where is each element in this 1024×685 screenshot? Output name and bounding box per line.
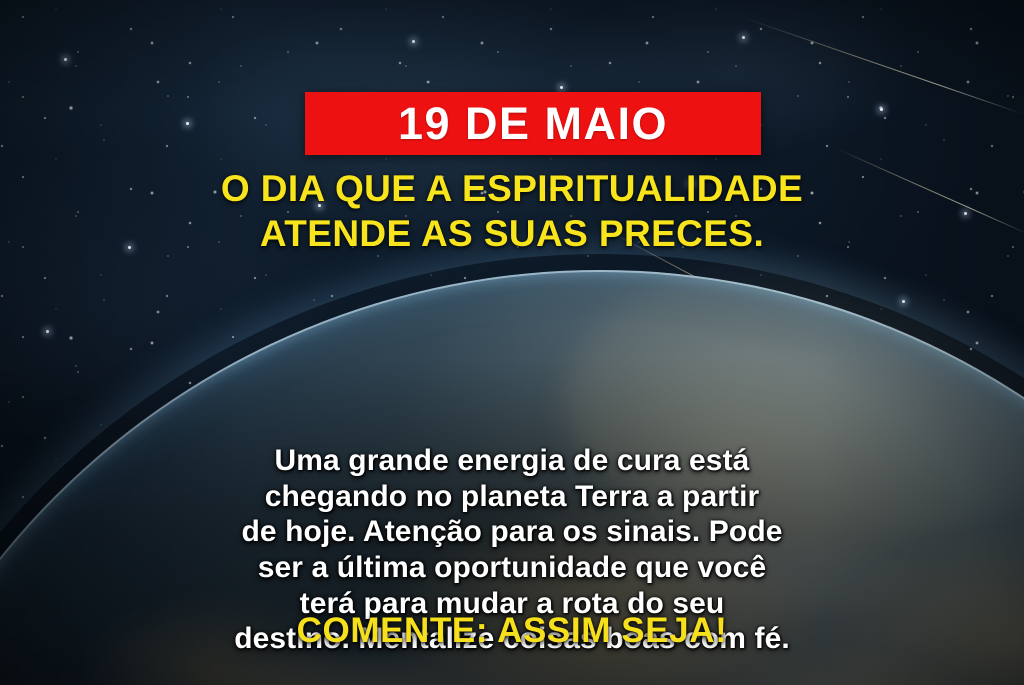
poster-canvas: 19 DE MAIO O DIA QUE A ESPIRITUALIDADE A… [0, 0, 1024, 685]
date-banner: 19 DE MAIO [305, 92, 761, 155]
poster-content: 19 DE MAIO O DIA QUE A ESPIRITUALIDADE A… [0, 0, 1024, 685]
headline-line-1: O DIA QUE A ESPIRITUALIDADE [62, 166, 962, 211]
headline: O DIA QUE A ESPIRITUALIDADE ATENDE AS SU… [62, 166, 962, 256]
headline-line-2: ATENDE AS SUAS PRECES. [62, 211, 962, 256]
call-to-action-label: COMENTE: ASSIM SEJA! [297, 611, 728, 650]
body-line-2: chegando no planeta Terra a partir [47, 479, 977, 515]
date-banner-label: 19 DE MAIO [398, 101, 668, 146]
body-line-3: de hoje. Atenção para os sinais. Pode [47, 514, 977, 550]
body-line-4: ser a última oportunidade que você [47, 550, 977, 586]
call-to-action: COMENTE: ASSIM SEJA! [297, 612, 728, 651]
body-line-1: Uma grande energia de cura está [47, 443, 977, 479]
